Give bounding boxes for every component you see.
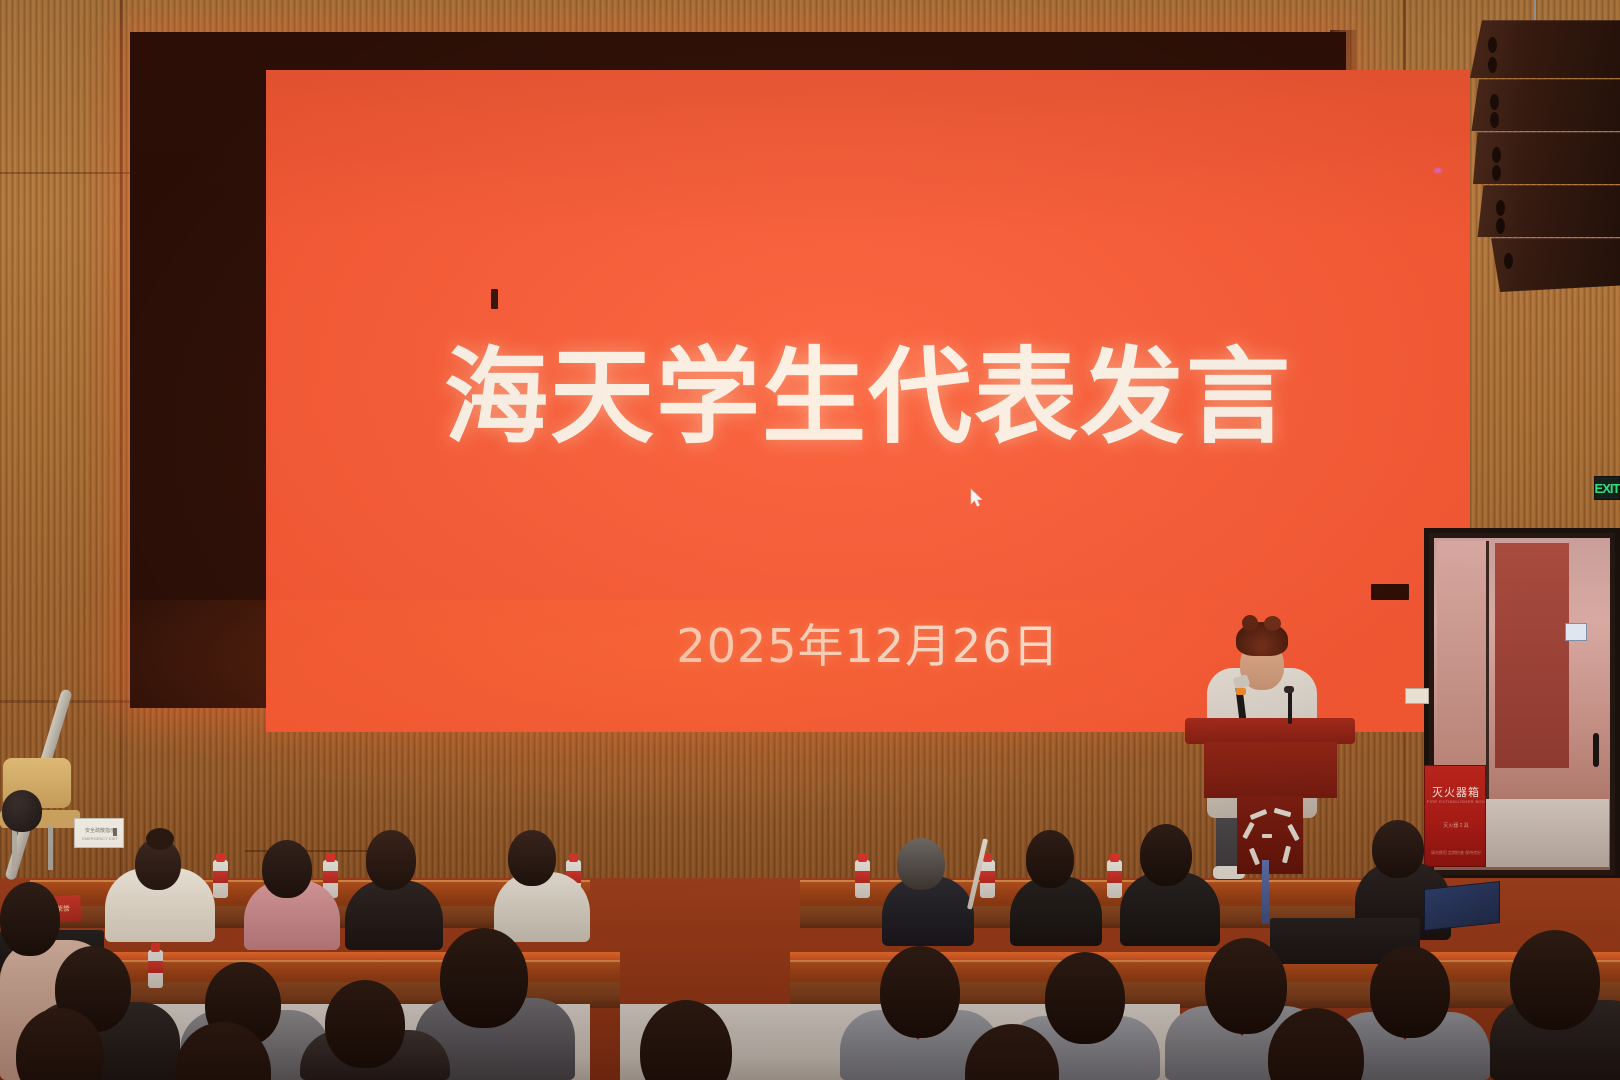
podium-emblem [1240,806,1302,868]
audience-head [440,928,528,1028]
emblem-ray [1242,822,1254,839]
speaker-module [1470,132,1620,184]
microphone-grip-band [1236,688,1246,695]
emblem-ray [1287,824,1299,841]
dead-pixel-artifact [1371,584,1409,600]
audience-head [1205,938,1287,1034]
line-array-speaker [1470,20,1620,292]
chair-leg [12,826,17,870]
water-bottle [980,860,995,898]
auditorium-scene: 海天学生代表发言 2025年12月26日 灭火器箱 FIRE EXTINGUIS… [0,0,1620,1080]
hair-bun [146,828,174,850]
bottle-label [980,871,995,883]
speaker-port [1496,218,1505,234]
speaker-module [1470,185,1620,237]
emblem-ray [1274,808,1292,817]
wall-sign-line-2: EMERGENCY EXIT [75,836,125,841]
water-bottle [148,950,163,988]
speaker-port [1490,112,1499,128]
audience-head [262,840,312,898]
flag-pole [1262,860,1269,924]
door-sticker [1565,623,1587,641]
fire-extinguisher-cabinet: 灭火器箱 FIRE EXTINGUISHER BOX 灭火器 2 具 请勿挪用 … [1424,765,1486,867]
audience-person [345,880,443,950]
audience-head [508,830,556,886]
water-bottle [855,860,870,898]
door-handle[interactable] [1593,733,1599,767]
fire-box-contents: 灭火器 2 具 [1425,822,1487,829]
led-screen-bezel: 海天学生代表发言 2025年12月26日 [130,32,1346,708]
audience-head [880,946,960,1038]
speaker-port [1492,165,1501,181]
gooseneck-mic-head-icon [1284,686,1294,693]
wall-seam [120,0,123,880]
audience-head [0,882,60,956]
chair-leg [48,826,53,870]
emblem-ray [1282,846,1291,864]
audience-head [1026,830,1074,888]
audience-head [366,830,416,890]
exit-sign: EXIT [1594,476,1620,500]
emblem-ray [1250,809,1268,820]
audience-head [1510,930,1600,1030]
bottle-label [1107,871,1122,883]
water-bottle [1107,860,1122,898]
fire-box-title: 灭火器箱 [1425,784,1487,800]
wall-sign-line-1: 安全疏散指示 [75,827,125,834]
audience-head [1372,820,1424,878]
speaker-module [1470,79,1620,131]
fire-box-subtitle: FIRE EXTINGUISHER BOX [1425,799,1487,804]
speaker-port [1490,94,1499,110]
speaker-module [1470,238,1620,292]
bottle-label [148,961,163,973]
wall-port [113,828,117,836]
emblem-ray [1249,848,1260,866]
mouse-pointer-icon [970,488,984,508]
slide-title: 海天学生代表发言 [266,342,1470,452]
laptop-screen[interactable] [1424,881,1500,931]
water-bottle [213,860,228,898]
slide-date: 2025年12月26日 [266,610,1470,676]
exit-sign-label: EXIT [1595,481,1620,496]
gooseneck-microphone [1288,690,1292,724]
fire-box-footer: 请勿挪用 定期检查 保持完好 [1425,850,1487,856]
speaker-module [1470,20,1620,78]
bottle-label [855,871,870,883]
exterior-wall [1495,543,1569,768]
bottle-label [323,871,338,883]
speaker-port [1492,147,1501,163]
stuck-pixel-artifact [1434,168,1442,173]
audience-head [897,838,945,890]
presenter-hair [1236,622,1288,656]
wall-socket-plate [1405,688,1429,704]
bottle-label [213,871,228,883]
speaker-port [1488,37,1497,53]
wall-seam [0,172,130,174]
speaker-suspension-wire [1534,0,1536,22]
podium-top [1185,718,1355,744]
podium-body [1204,742,1337,798]
backpack-on-chair [2,790,42,832]
speaker-port [1488,57,1497,73]
led-screen[interactable]: 海天学生代表发言 2025年12月26日 [266,70,1470,732]
dead-pixel-artifact [491,289,498,309]
audience-head [1140,824,1192,886]
audience-head [1045,952,1125,1044]
emblem-center [1262,834,1272,838]
speaker-port [1504,253,1513,269]
audience-head [325,980,405,1068]
audience-head [1370,946,1450,1038]
speaker-port [1496,200,1505,216]
